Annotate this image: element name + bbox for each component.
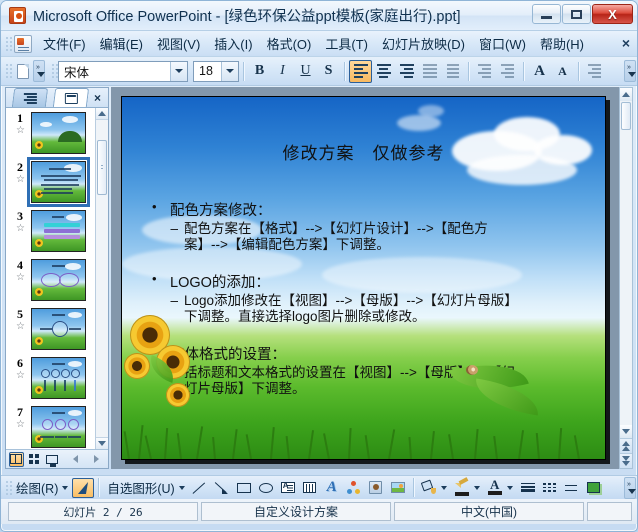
toolbar-separator: [468, 62, 469, 81]
arrow-tool[interactable]: [211, 478, 233, 498]
close-button[interactable]: X: [592, 4, 633, 24]
vertical-text-box-tool[interactable]: [299, 478, 321, 498]
bullet-level1: • LOGO的添加：: [152, 271, 583, 292]
normal-view-button[interactable]: [9, 452, 24, 467]
font-name-chevron-down-icon[interactable]: [170, 62, 187, 81]
thumbnail-scrollbar[interactable]: [95, 108, 108, 449]
title-bar: Microsoft Office PowerPoint - [绿色环保公益ppt…: [1, 1, 638, 31]
list-item[interactable]: 4 ☆: [6, 255, 95, 304]
line-tool[interactable]: [189, 478, 211, 498]
grass-decoration: [122, 421, 605, 459]
dash-style-tool[interactable]: [539, 478, 561, 498]
pane-tab-strip: ×: [6, 88, 108, 108]
insert-picture-tool[interactable]: [387, 478, 409, 498]
slide-title[interactable]: 修改方案 仅做参考: [122, 139, 605, 164]
scrollbar-thumb[interactable]: [97, 140, 107, 195]
scroll-right-icon[interactable]: [89, 452, 104, 467]
menu-item-view[interactable]: 视图(V): [150, 31, 207, 56]
autoshapes-chevron-down-icon[interactable]: [179, 486, 185, 490]
bullet-level1: • 配色方案修改：: [152, 199, 583, 220]
current-slide[interactable]: 修改方案 仅做参考 • 配色方案修改： – 配色方案在【格式】-->【幻灯片设计…: [121, 96, 606, 460]
powerpoint-window: Microsoft Office PowerPoint - [绿色环保公益ppt…: [0, 0, 638, 532]
numbering-icon[interactable]: [473, 60, 496, 83]
slide-thumbnail[interactable]: [31, 210, 86, 252]
clip-art-tool[interactable]: [365, 478, 387, 498]
slide-body[interactable]: • 配色方案修改： – 配色方案在【格式】-->【幻灯片设计】-->【配色方 案…: [152, 197, 583, 398]
standard-toolbar-grip[interactable]: [4, 62, 12, 80]
snail-decoration: [466, 365, 478, 375]
font-size-combo[interactable]: 18: [193, 61, 239, 82]
menubar-grip[interactable]: [4, 35, 12, 53]
animation-star-icon: ☆: [9, 321, 31, 332]
slide-number: 1: [9, 112, 31, 125]
sub-line: 配色方案在【格式】-->【幻灯片设计】-->【配色方: [184, 221, 488, 236]
thumbnail-meta: 6 ☆: [9, 357, 31, 381]
slide-thumbnail[interactable]: [31, 259, 86, 301]
animation-star-icon: ☆: [9, 174, 31, 185]
animation-star-icon: ☆: [9, 223, 31, 234]
sub-line: 灯片母版】下调整。: [184, 381, 306, 396]
toolbar-separator: [578, 62, 579, 81]
scroll-down-icon[interactable]: [96, 437, 108, 449]
toolbar-separator: [413, 478, 414, 497]
font-size-chevron-down-icon[interactable]: [221, 62, 238, 81]
drawing-toolbar: 绘图(R) 自选图形(U) A: [1, 475, 638, 499]
scroll-up-icon[interactable]: [96, 108, 108, 120]
sub-line: 下调整。直接选择logo图片删除或修改。: [184, 309, 426, 324]
formatting-toolbar-options-icon[interactable]: »: [624, 60, 636, 82]
previous-slide-button[interactable]: [620, 438, 632, 453]
bullet-text: 配色方案修改：: [170, 199, 272, 220]
window-title: Microsoft Office PowerPoint - [绿色环保公益ppt…: [33, 5, 461, 26]
list-item[interactable]: 1 ☆: [6, 108, 95, 157]
sub-line: 案】-->【编辑配色方案】下调整。: [184, 237, 390, 252]
align-justify-icon[interactable]: [418, 60, 441, 83]
sunflower-decoration: [166, 383, 190, 407]
formatting-toolbar: » 宋体 18 B I U S: [1, 57, 638, 86]
slide-number: 4: [9, 259, 31, 272]
status-empty-field: [587, 502, 632, 521]
document-icon: [14, 35, 32, 53]
toolbar-options-icon[interactable]: »: [33, 60, 45, 82]
thumbnail-meta: 2 ☆: [9, 161, 31, 185]
menu-item-format[interactable]: 格式(O): [260, 31, 319, 56]
bullets-icon[interactable]: [496, 60, 519, 83]
thumbnail-meta: 4 ☆: [9, 259, 31, 283]
slide-number: 5: [9, 308, 31, 321]
align-left-icon[interactable]: [349, 60, 372, 83]
slide-scrollbar[interactable]: [619, 87, 633, 469]
slide-thumbnail[interactable]: [31, 112, 86, 154]
slides-pane: × 1 ☆ 2 ☆: [5, 87, 109, 469]
animation-star-icon: ☆: [9, 419, 31, 430]
minimize-button[interactable]: [532, 4, 561, 24]
draw-chevron-down-icon[interactable]: [62, 486, 68, 490]
oval-tool[interactable]: [255, 478, 277, 498]
list-item[interactable]: 7 ☆: [6, 402, 95, 449]
list-item[interactable]: 2 ☆: [6, 157, 95, 206]
window-controls: X: [532, 4, 633, 24]
list-item[interactable]: 5 ☆: [6, 304, 95, 353]
menu-item-edit[interactable]: 编辑(E): [93, 31, 150, 56]
thumbnail-meta: 5 ☆: [9, 308, 31, 332]
bullet-level2: – 配色方案在【格式】-->【幻灯片设计】-->【配色方 案】-->【编辑配色方…: [152, 221, 583, 254]
align-right-icon[interactable]: [395, 60, 418, 83]
list-item[interactable]: 6 ☆: [6, 353, 95, 402]
scrollbar-thumb[interactable]: [621, 102, 631, 130]
slide-number: 6: [9, 357, 31, 370]
thumbnail-meta: 3 ☆: [9, 210, 31, 234]
sunflower-decoration: [124, 353, 150, 379]
align-center-icon[interactable]: [372, 60, 395, 83]
slide-thumbnail[interactable]: [31, 161, 86, 203]
toolbar-separator: [523, 62, 524, 81]
font-color-chevron-down-icon[interactable]: [507, 486, 513, 490]
decrease-font-size-icon[interactable]: A: [551, 60, 574, 83]
fill-color-chevron-down-icon[interactable]: [441, 486, 447, 490]
autoshapes-menu-button[interactable]: 自选图形(U): [103, 478, 177, 497]
powerpoint-icon: [9, 7, 26, 24]
language-status[interactable]: 中文(中国): [394, 502, 584, 521]
scroll-up-icon[interactable]: [620, 88, 632, 101]
sub-bullet-marker: –: [152, 221, 184, 254]
drawing-toolbar-options-icon[interactable]: »: [624, 477, 636, 499]
diagram-tool[interactable]: [343, 478, 365, 498]
bold-button[interactable]: B: [248, 60, 271, 83]
sub-line: Logo添加修改在【视图】-->【母版】-->【幻灯片母版】: [184, 293, 518, 308]
outline-tab[interactable]: [12, 88, 48, 107]
draw-menu-button[interactable]: 绘图(R): [12, 478, 61, 497]
font-name-value: 宋体: [59, 62, 89, 81]
fill-color-tool[interactable]: [418, 478, 440, 498]
formatting-toolbar-grip[interactable]: [50, 62, 58, 80]
line-color-chevron-down-icon[interactable]: [474, 486, 480, 490]
menu-bar: 文件(F) 编辑(E) 视图(V) 插入(I) 格式(O) 工具(T) 幻灯片放…: [1, 31, 638, 57]
scroll-left-icon[interactable]: [69, 452, 84, 467]
slide-thumbnail[interactable]: [31, 406, 86, 448]
sub-bullet-text: Logo添加修改在【视图】-->【母版】-->【幻灯片母版】 下调整。直接选择l…: [184, 293, 518, 326]
slide-show-button[interactable]: [44, 452, 59, 467]
new-document-icon[interactable]: [12, 61, 33, 82]
toolbar-separator: [344, 62, 345, 81]
text-box-tool[interactable]: [277, 478, 299, 498]
font-size-value: 18: [194, 64, 213, 78]
next-slide-button[interactable]: [620, 453, 632, 468]
increase-font-size-icon[interactable]: A: [528, 60, 551, 83]
bullet-marker: •: [152, 271, 170, 292]
line-style-tool[interactable]: [517, 478, 539, 498]
animation-star-icon: ☆: [9, 272, 31, 283]
word-art-tool[interactable]: A: [321, 478, 343, 498]
slide-thumbnail[interactable]: [31, 357, 86, 399]
font-name-combo[interactable]: 宋体: [58, 61, 188, 82]
slides-icon: [64, 93, 77, 104]
select-arrow-tool[interactable]: [72, 478, 94, 498]
slide-number: 7: [9, 406, 31, 419]
font-color-tool[interactable]: A: [484, 478, 506, 498]
menu-item-help[interactable]: 帮助(H): [533, 31, 591, 56]
status-bar: 幻灯片 2 / 26 自定义设计方案 中文(中国): [1, 499, 638, 524]
sub-bullet-text: 配色方案在【格式】-->【幻灯片设计】-->【配色方 案】-->【编辑配色方案】…: [184, 221, 488, 254]
menu-item-tools[interactable]: 工具(T): [318, 31, 375, 56]
slide-counter: 幻灯片 2 / 26: [8, 502, 198, 521]
slide-sorter-view-button[interactable]: [27, 452, 42, 467]
slide-number: 3: [9, 210, 31, 223]
slides-tab[interactable]: [53, 88, 89, 107]
underline-button[interactable]: U: [294, 60, 317, 83]
animation-star-icon: ☆: [9, 370, 31, 381]
menu-item-insert[interactable]: 插入(I): [207, 31, 259, 56]
toolbar-separator: [243, 62, 244, 81]
close-document-button[interactable]: ×: [622, 35, 630, 51]
menu-item-window[interactable]: 窗口(W): [472, 31, 533, 56]
thumbnail-meta: 7 ☆: [9, 406, 31, 430]
line-color-tool[interactable]: [451, 478, 473, 498]
italic-button[interactable]: I: [271, 60, 294, 83]
outline-icon: [23, 93, 36, 104]
line-spacing-icon[interactable]: [441, 60, 464, 83]
arrow-style-tool[interactable]: [561, 478, 583, 498]
thumbnail-meta: 1 ☆: [9, 112, 31, 136]
slide-thumbnail[interactable]: [31, 308, 86, 350]
drawing-toolbar-grip[interactable]: [4, 479, 12, 497]
thumbnail-list[interactable]: 1 ☆ 2 ☆: [6, 108, 95, 449]
animation-star-icon: ☆: [9, 125, 31, 136]
view-buttons-bar: [6, 449, 108, 468]
slide-number: 2: [9, 161, 31, 174]
list-item[interactable]: 3 ☆: [6, 206, 95, 255]
menu-item-slideshow[interactable]: 幻灯片放映(D): [375, 31, 472, 56]
scroll-down-icon[interactable]: [620, 425, 632, 438]
decrease-indent-icon[interactable]: [583, 60, 606, 83]
text-shadow-button[interactable]: S: [317, 60, 340, 83]
shadow-3d-tool[interactable]: [583, 478, 605, 498]
close-pane-icon[interactable]: ×: [94, 91, 101, 105]
bullet-level2: – Logo添加修改在【视图】-->【母版】-->【幻灯片母版】 下调整。直接选…: [152, 293, 583, 326]
bullet-marker: •: [152, 199, 170, 220]
bullet-level1: • 字体格式的设置：: [152, 343, 583, 364]
maximize-button[interactable]: [562, 4, 591, 24]
menu-item-file[interactable]: 文件(F): [36, 31, 93, 56]
rectangle-tool[interactable]: [233, 478, 255, 498]
toolbar-separator: [98, 478, 99, 497]
bullet-text: LOGO的添加：: [170, 271, 270, 292]
design-template-status[interactable]: 自定义设计方案: [201, 502, 391, 521]
slide-editing-area: 修改方案 仅做参考 • 配色方案修改： – 配色方案在【格式】-->【幻灯片设计…: [111, 87, 619, 469]
